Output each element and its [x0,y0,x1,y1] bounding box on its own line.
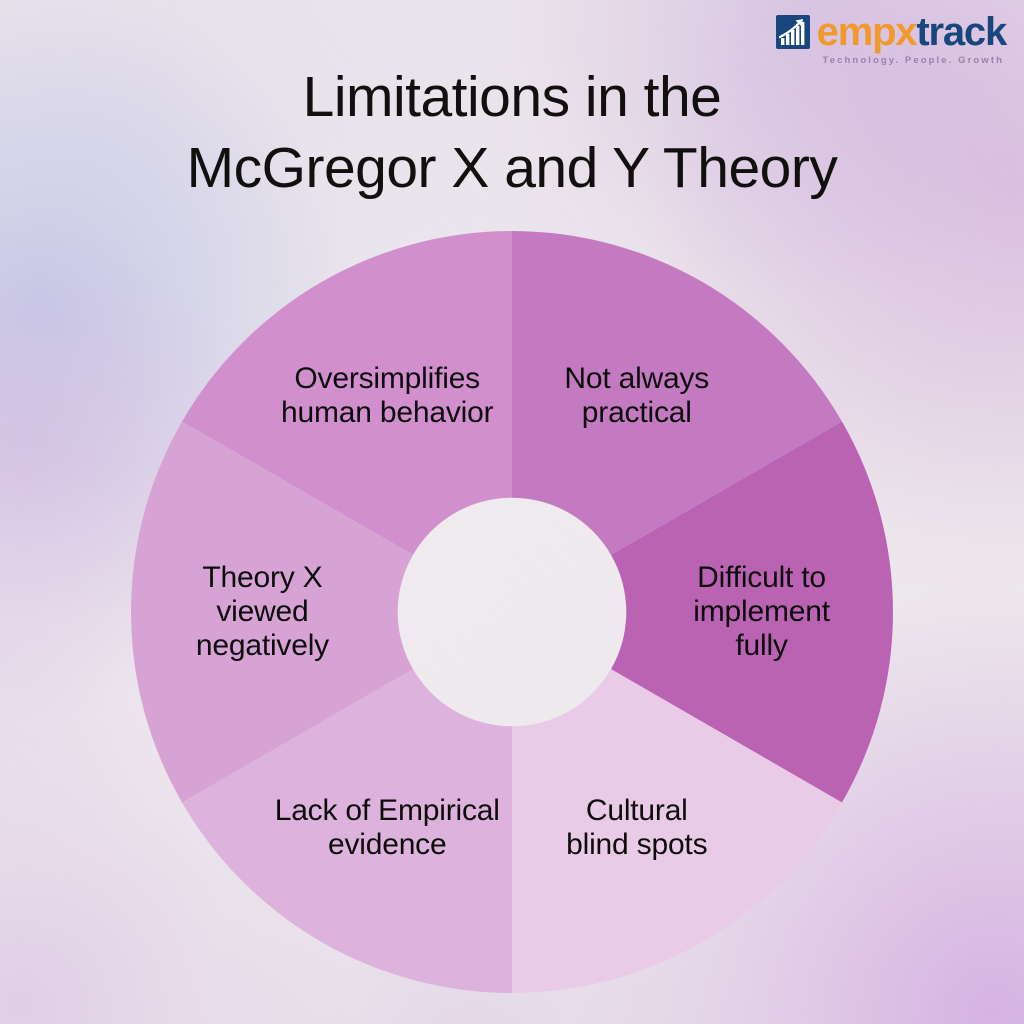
logo-wordmark: empxtrack [817,12,1006,52]
donut-chart: Not always practicalDifficult to impleme… [131,231,893,993]
bar-chart-growth-icon [776,15,810,49]
infographic-canvas: empxtrack Technology. People. Growth Lim… [0,0,1024,1024]
logo-word-track: track [916,10,1006,54]
donut-segment-group [131,231,893,993]
donut-chart-svg [131,231,893,993]
logo-tagline: Technology. People. Growth [823,55,1004,66]
page-title: Limitations in the McGregor X and Y Theo… [0,62,1024,203]
empxtrack-logo[interactable]: empxtrack Technology. People. Growth [776,12,1006,66]
page-title-line-1: Limitations in the [0,62,1024,133]
page-title-line-2: McGregor X and Y Theory [0,133,1024,204]
logo-word-empx: empx [817,10,917,54]
logo-row: empxtrack [776,12,1006,52]
